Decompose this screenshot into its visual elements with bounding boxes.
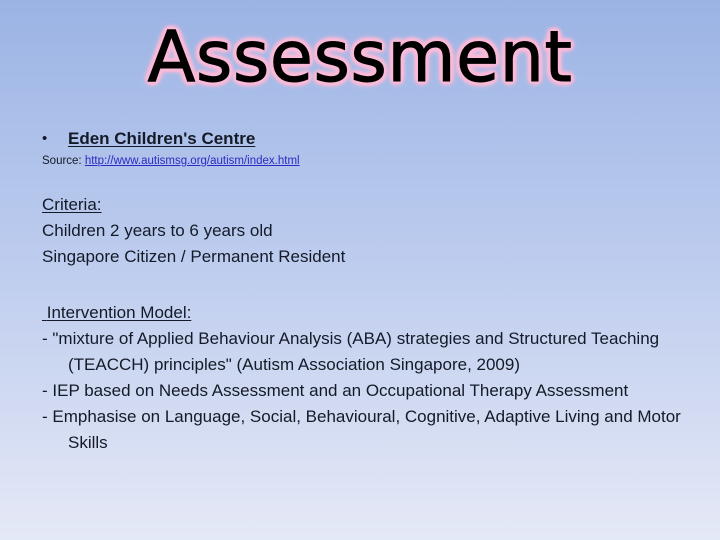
slide-body: • Eden Children's Centre Source: http://…: [42, 128, 692, 456]
organisation-name: Eden Children's Centre: [68, 128, 255, 150]
list-item-organisation: • Eden Children's Centre: [42, 128, 692, 150]
intervention-item-3: - Emphasise on Language, Social, Behavio…: [42, 404, 692, 456]
source-line: Source: http://www.autismsg.org/autism/i…: [42, 152, 692, 170]
source-label: Source:: [42, 155, 82, 167]
spacer: [42, 270, 692, 300]
criteria-line-1: Children 2 years to 6 years old: [42, 218, 692, 244]
slide-canvas: Assessment • Eden Children's Centre Sour…: [0, 0, 720, 540]
criteria-line-2: Singapore Citizen / Permanent Resident: [42, 244, 692, 270]
page-title: Assessment: [148, 22, 573, 92]
bullet-icon: •: [42, 128, 68, 150]
spacer: [42, 170, 692, 192]
title-block: Assessment: [0, 22, 720, 92]
source-url-link[interactable]: http://www.autismsg.org/autism/index.htm…: [85, 155, 300, 167]
criteria-heading: Criteria:: [42, 192, 692, 218]
intervention-item-2: - IEP based on Needs Assessment and an O…: [42, 378, 692, 404]
intervention-item-1: - "mixture of Applied Behaviour Analysis…: [42, 326, 692, 378]
intervention-model-heading: Intervention Model:: [42, 300, 692, 326]
